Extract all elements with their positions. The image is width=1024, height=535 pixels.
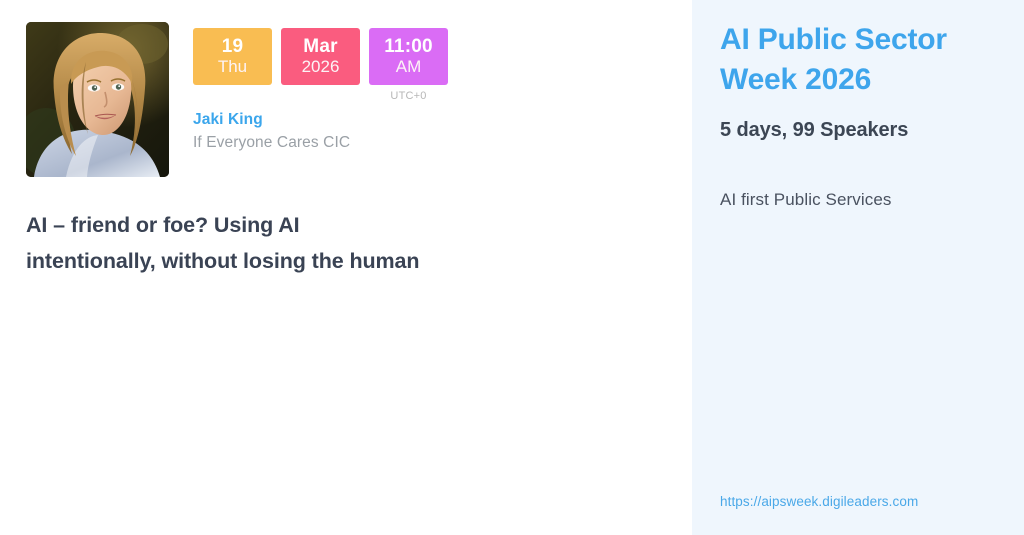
date-time-badges: 19 Thu Mar 2026 11:00 AM — [193, 28, 448, 102]
speaker-portrait-photo — [26, 22, 169, 177]
day-badge-wrap: 19 Thu — [193, 28, 272, 85]
session-header-details: 19 Thu Mar 2026 11:00 AM — [193, 22, 448, 152]
speaker-name[interactable]: Jaki King — [193, 111, 448, 129]
event-tagline: AI first Public Services — [720, 190, 998, 210]
day-badge-value: 19 — [222, 37, 244, 57]
time-badge: 11:00 AM — [369, 28, 448, 85]
day-badge: 19 Thu — [193, 28, 272, 85]
session-card: 19 Thu Mar 2026 11:00 AM — [0, 0, 1024, 535]
time-badge-meridiem: AM — [396, 58, 422, 76]
time-badge-value: 11:00 — [384, 37, 433, 57]
month-badge: Mar 2026 — [281, 28, 360, 85]
timezone-label: UTC+0 — [390, 90, 426, 102]
day-badge-label: Thu — [218, 58, 247, 76]
session-header: 19 Thu Mar 2026 11:00 AM — [26, 22, 692, 177]
event-url-link[interactable]: https://aipsweek.digileaders.com — [720, 494, 918, 509]
session-title: AI – friend or foe? Using AI intentional… — [26, 207, 431, 279]
time-badge-wrap: 11:00 AM UTC+0 — [369, 28, 448, 102]
speaker-block: Jaki King If Everyone Cares CIC — [193, 111, 448, 152]
speaker-organisation: If Everyone Cares CIC — [193, 134, 448, 152]
month-badge-value: Mar — [303, 37, 337, 57]
event-pane: AI Public Sector Week 2026 5 days, 99 Sp… — [692, 0, 1024, 535]
event-title: AI Public Sector Week 2026 — [720, 20, 950, 99]
session-pane: 19 Thu Mar 2026 11:00 AM — [0, 0, 692, 535]
month-badge-label: 2026 — [302, 58, 340, 76]
month-badge-wrap: Mar 2026 — [281, 28, 360, 85]
event-meta: 5 days, 99 Speakers — [720, 119, 998, 142]
